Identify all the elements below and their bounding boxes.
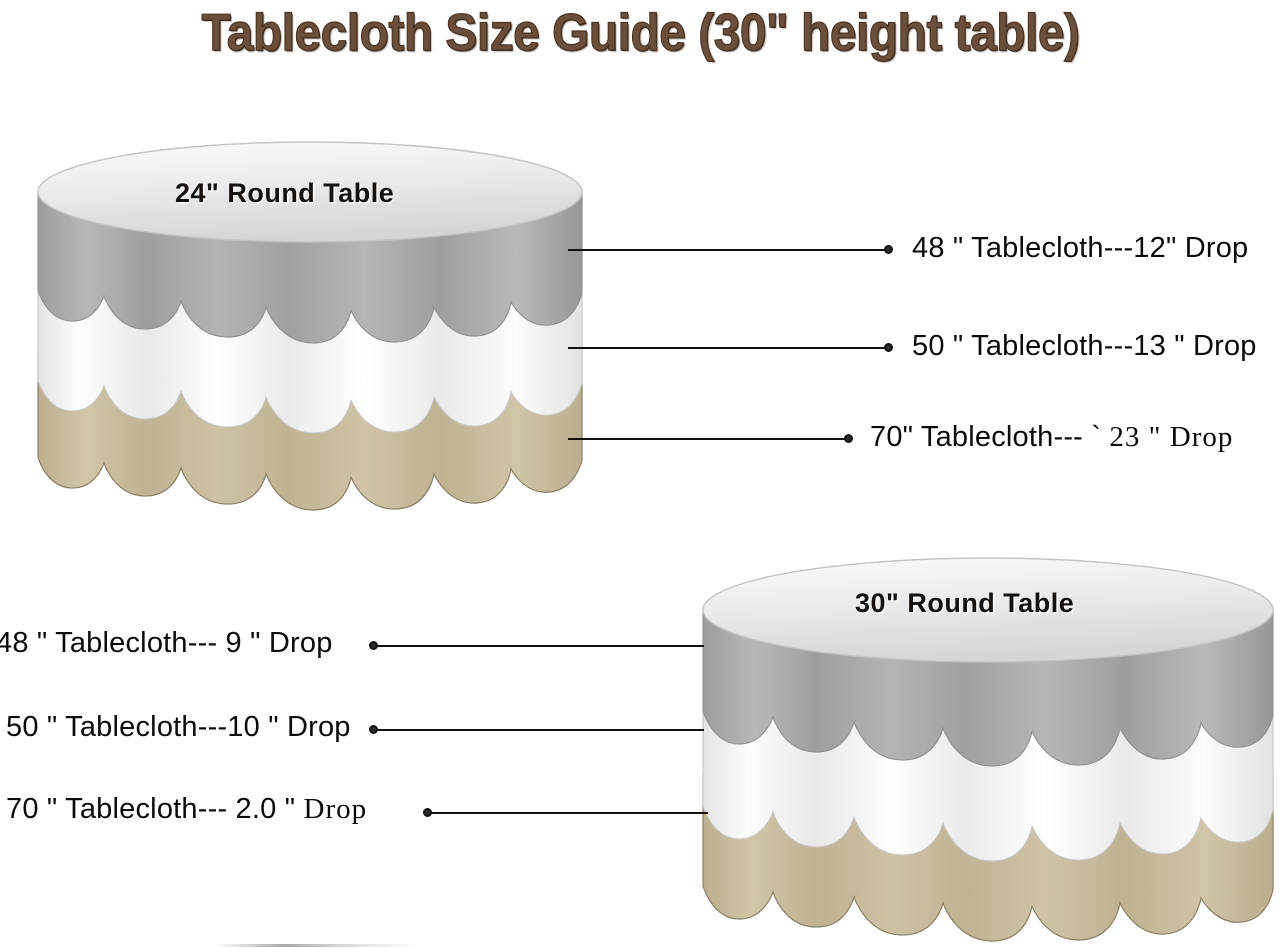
illustration-canvas: Tablecloth Size Guide (30" height table) bbox=[0, 0, 1281, 948]
leader-stroke bbox=[568, 249, 888, 251]
leader-dot bbox=[369, 641, 378, 650]
leader-line-30-48in bbox=[374, 644, 704, 647]
table-caption-30in: 30" Round Table bbox=[855, 588, 1074, 619]
callout-text: 50 " Tablecloth---13 " Drop bbox=[912, 330, 1257, 362]
leader-line-30-50in bbox=[374, 728, 704, 731]
leader-dot bbox=[844, 434, 853, 443]
table-caption-24in: 24" Round Table bbox=[175, 178, 394, 209]
callout-text: 50 " Tablecloth---10 " Drop bbox=[6, 711, 351, 743]
leader-stroke bbox=[568, 438, 848, 440]
callout-text-suffix: 23 " Drop bbox=[1109, 421, 1233, 453]
leader-dot bbox=[884, 245, 893, 254]
leader-line-24-48in bbox=[568, 248, 888, 251]
leader-line-30-70in bbox=[428, 811, 708, 814]
callout-text: 70 " Tablecloth--- 2.0 " bbox=[6, 793, 295, 825]
callout-text: 48 " Tablecloth---12" Drop bbox=[912, 232, 1248, 264]
callout-text: 70" Tablecloth--- bbox=[870, 421, 1083, 453]
leader-line-24-50in bbox=[568, 346, 888, 349]
scan-artifact-line bbox=[215, 944, 420, 947]
callout-text: 48 " Tablecloth--- 9 " Drop bbox=[0, 627, 333, 659]
callout-24-50in: 50 " Tablecloth---13 " Drop bbox=[912, 330, 1257, 363]
leader-dot bbox=[369, 725, 378, 734]
callout-30-70in: 70 " Tablecloth--- 2.0 " Drop bbox=[6, 793, 367, 826]
page-title: Tablecloth Size Guide (30" height table) bbox=[51, 2, 1230, 64]
callout-24-48in: 48 " Tablecloth---12" Drop bbox=[912, 232, 1248, 265]
callout-24-70in: 70" Tablecloth--- ` 23 " Drop bbox=[870, 421, 1233, 454]
callout-30-48in: 48 " Tablecloth--- 9 " Drop bbox=[0, 627, 333, 660]
callout-text-suffix: Drop bbox=[304, 793, 368, 825]
leader-stroke bbox=[374, 729, 704, 731]
leader-stroke bbox=[428, 812, 708, 814]
leader-stroke bbox=[374, 645, 704, 647]
leader-dot bbox=[884, 343, 893, 352]
callout-30-50in: 50 " Tablecloth---10 " Drop bbox=[6, 711, 351, 744]
leader-stroke bbox=[568, 347, 888, 349]
leader-line-24-70in bbox=[568, 437, 848, 440]
leader-dot bbox=[423, 808, 432, 817]
